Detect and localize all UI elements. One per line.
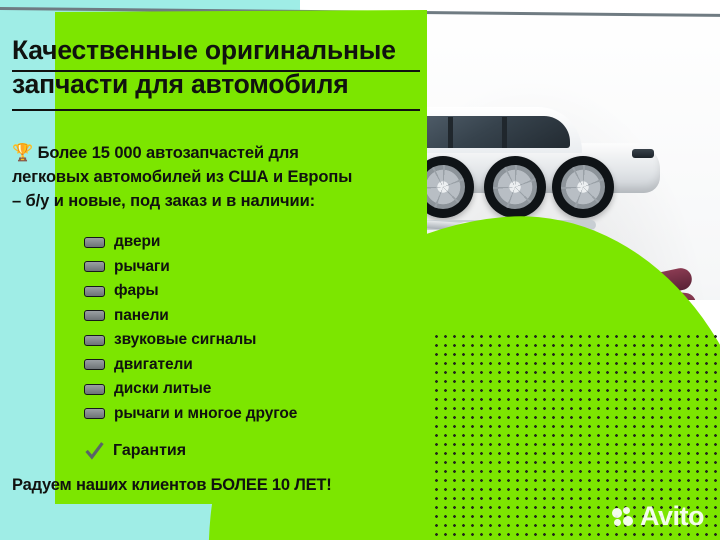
guarantee-label: Гарантия: [113, 442, 186, 460]
list-item-label: диски литые: [114, 380, 211, 398]
dash-marker-icon: [84, 310, 105, 321]
lead-line-1: Более 15 000 автозапчастей для: [38, 144, 299, 162]
list-item: фары: [84, 279, 414, 304]
headline: Качественные оригинальные запчасти для а…: [12, 33, 412, 102]
list-item: двигатели: [84, 353, 414, 378]
avito-watermark: Avito: [612, 503, 704, 530]
list-item: двери: [84, 230, 414, 255]
dash-marker-icon: [84, 384, 105, 395]
avito-wordmark: Avito: [640, 503, 704, 530]
list-item: диски литые: [84, 377, 414, 402]
list-item: рычаги и многое другое: [84, 402, 414, 427]
trophy-icon: 🏆: [12, 143, 33, 162]
list-item-label: рычаги: [114, 258, 170, 276]
dash-marker-icon: [84, 286, 105, 297]
advertisement-banner: Качественные оригинальные запчасти для а…: [0, 0, 720, 540]
check-mark-icon: [84, 440, 105, 461]
lead-line-2: легковых автомобилей из США и Европы: [12, 168, 352, 186]
list-item-label: двери: [114, 233, 160, 251]
avito-dots-icon: [612, 507, 635, 527]
dash-marker-icon: [84, 408, 105, 419]
list-item-label: рычаги и многое другое: [114, 405, 297, 423]
list-item-label: звуковые сигналы: [114, 331, 256, 349]
dash-marker-icon: [84, 237, 105, 248]
list-item: звуковые сигналы: [84, 328, 414, 353]
guarantee-row: Гарантия: [84, 440, 186, 461]
lead-line-3: – б/у и новые, под заказ и в наличии:: [12, 192, 315, 210]
footer-line: Радуем наших клиентов БОЛЕЕ 10 ЛЕТ!: [12, 476, 432, 495]
dash-marker-icon: [84, 335, 105, 346]
dash-marker-icon: [84, 261, 105, 272]
list-item-label: двигатели: [114, 356, 193, 374]
list-item: рычаги: [84, 255, 414, 280]
headline-line-1: Качественные оригинальные: [12, 33, 412, 67]
headline-line-2: запчасти для автомобиля: [12, 67, 412, 101]
list-item-label: фары: [114, 282, 159, 300]
dash-marker-icon: [84, 359, 105, 370]
lead-paragraph: 🏆 Более 15 000 автозапчастей для легковы…: [12, 141, 422, 214]
parts-bullet-list: двери рычаги фары панели звуковые сигнал…: [84, 230, 414, 426]
list-item: панели: [84, 304, 414, 329]
text-content-layer: Качественные оригинальные запчасти для а…: [0, 0, 720, 540]
list-item-label: панели: [114, 307, 169, 325]
